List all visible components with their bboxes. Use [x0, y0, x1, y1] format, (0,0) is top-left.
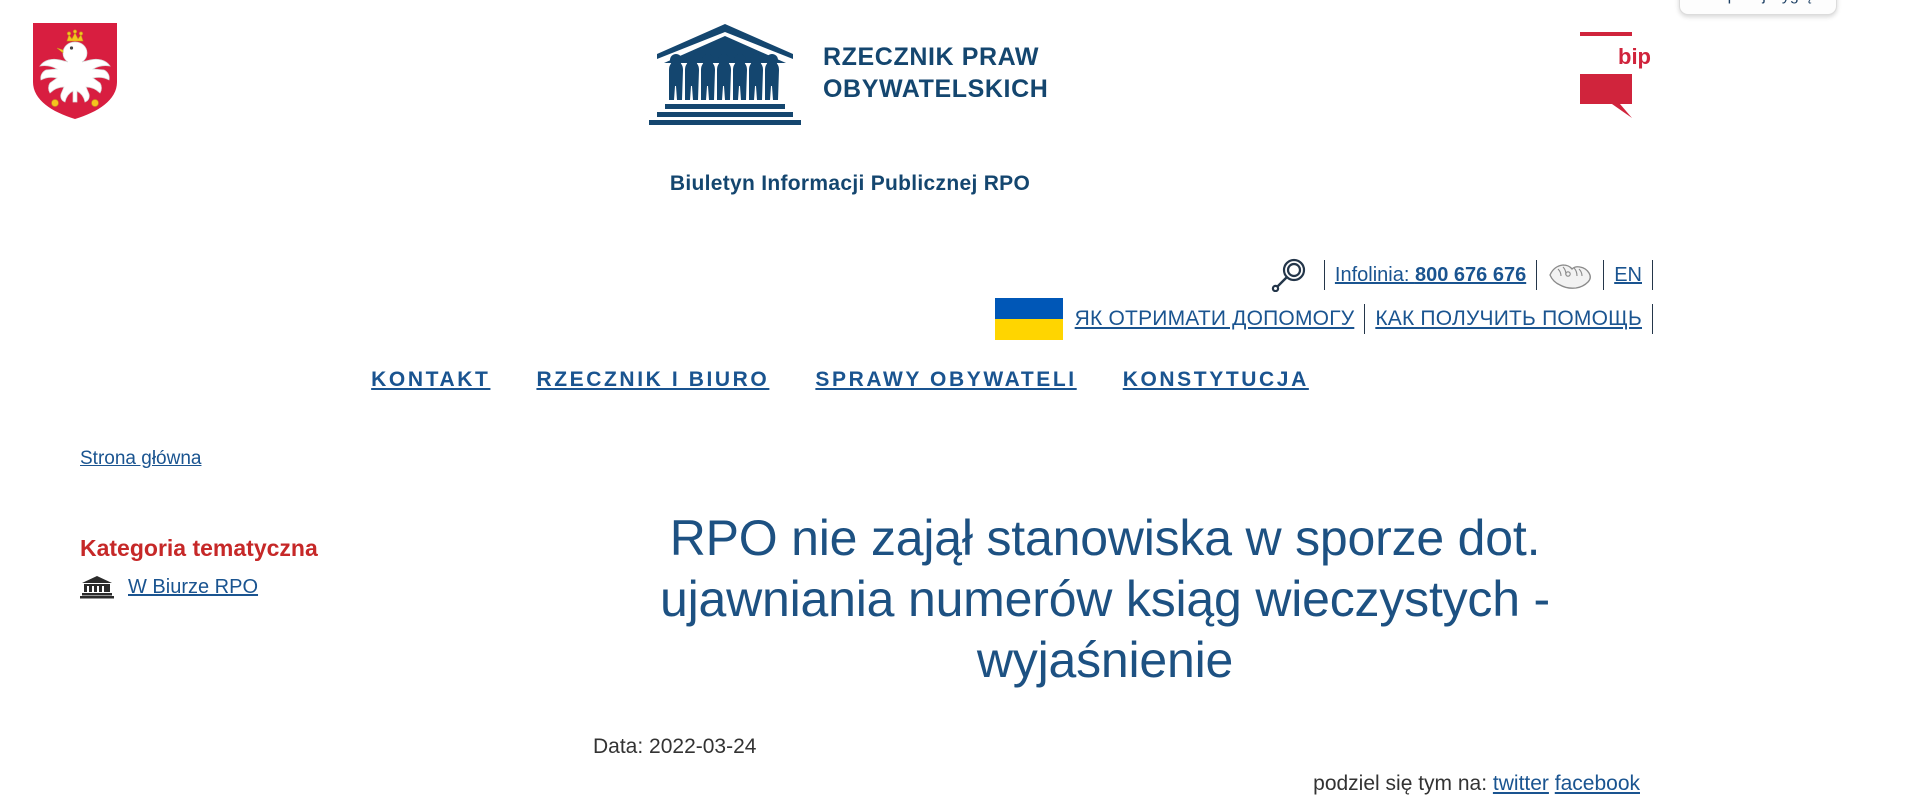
rpo-building-icon	[645, 18, 805, 128]
sign-language-icon[interactable]	[1547, 260, 1593, 290]
help-russian-link[interactable]: КАК ПОЛУЧИТЬ ПОМОЩЬ	[1375, 307, 1642, 331]
hotline-number: 800 676 676	[1415, 264, 1526, 286]
utility-bar-ukraine: ЯК ОТРИМАТИ ДОПОМОГУ КАК ПОЛУЧИТЬ ПОМОЩЬ	[0, 298, 1663, 340]
nav-item-konstytucja[interactable]: KONSTYTUCJA	[1123, 368, 1309, 392]
share-row: podziel się tym na: twitter facebook	[0, 772, 1640, 796]
rpo-logo[interactable]: RZECZNIK PRAW OBYWATELSKICH	[645, 18, 1048, 128]
separator	[1603, 260, 1604, 290]
adjust-appearance-button[interactable]: + dopasuj wygląd	[1679, 0, 1837, 15]
share-facebook-link[interactable]: facebook	[1555, 772, 1640, 795]
sidebar-category-title: Kategoria tematyczna	[80, 535, 510, 562]
sidebar-item-label[interactable]: W Biurze RPO	[128, 576, 258, 599]
bip-subtitle: Biuletyn Informacji Publicznej RPO	[0, 172, 1700, 196]
help-ukrainian-link[interactable]: ЯК ОТРИМАТИ ДОПОМОГУ	[1075, 307, 1355, 331]
separator	[1536, 260, 1537, 290]
article: RPO nie zajął stanowiska w sporze dot. u…	[580, 508, 1630, 759]
ukraine-flag-icon	[995, 298, 1063, 340]
polish-coat-of-arms-icon	[30, 20, 120, 120]
article-date-value: 2022-03-24	[649, 735, 756, 758]
sidebar-item-w-biurze-rpo[interactable]: W Biurze RPO	[80, 575, 510, 599]
nav-item-rzecznik-i-biuro[interactable]: RZECZNIK I BIURO	[536, 368, 769, 392]
nav-item-kontakt[interactable]: KONTAKT	[371, 368, 490, 392]
article-date-label: Data:	[593, 735, 649, 758]
bip-logo[interactable]: bip	[1580, 28, 1660, 120]
breadcrumb: Strona główna	[80, 448, 201, 470]
svg-text:bip: bip	[1618, 44, 1651, 69]
page-title: RPO nie zajął stanowiska w sporze dot. u…	[580, 508, 1630, 691]
rpo-wordmark: RZECZNIK PRAW OBYWATELSKICH	[823, 41, 1048, 105]
hotline-prefix: Infolinia:	[1335, 264, 1415, 286]
breadcrumb-home-link[interactable]: Strona główna	[80, 448, 201, 469]
language-switch-en[interactable]: EN	[1614, 264, 1642, 287]
separator	[1652, 260, 1653, 290]
share-label: podziel się tym na:	[1313, 772, 1493, 795]
rpo-wordmark-line2: OBYWATELSKICH	[823, 73, 1048, 105]
main-navigation: KONTAKT RZECZNIK I BIURO SPRAWY OBYWATEL…	[0, 368, 1680, 392]
separator	[1652, 304, 1653, 334]
hotline-link[interactable]: Infolinia: 800 676 676	[1335, 264, 1526, 287]
search-icon[interactable]	[1270, 258, 1310, 292]
separator	[1364, 304, 1365, 334]
rpo-wordmark-line1: RZECZNIK PRAW	[823, 41, 1048, 73]
building-icon	[80, 575, 114, 599]
separator	[1324, 260, 1325, 290]
nav-item-sprawy-obywateli[interactable]: SPRAWY OBYWATELI	[815, 368, 1076, 392]
utility-bar-primary: Infolinia: 800 676 676 EN	[0, 258, 1663, 292]
article-date: Data: 2022-03-24	[593, 735, 1630, 759]
page-root: RZECZNIK PRAW OBYWATELSKICH bip + dopasu…	[0, 0, 1920, 810]
share-twitter-link[interactable]: twitter	[1493, 772, 1549, 795]
sidebar: Kategoria tematyczna W Biurze RPO	[80, 535, 510, 599]
